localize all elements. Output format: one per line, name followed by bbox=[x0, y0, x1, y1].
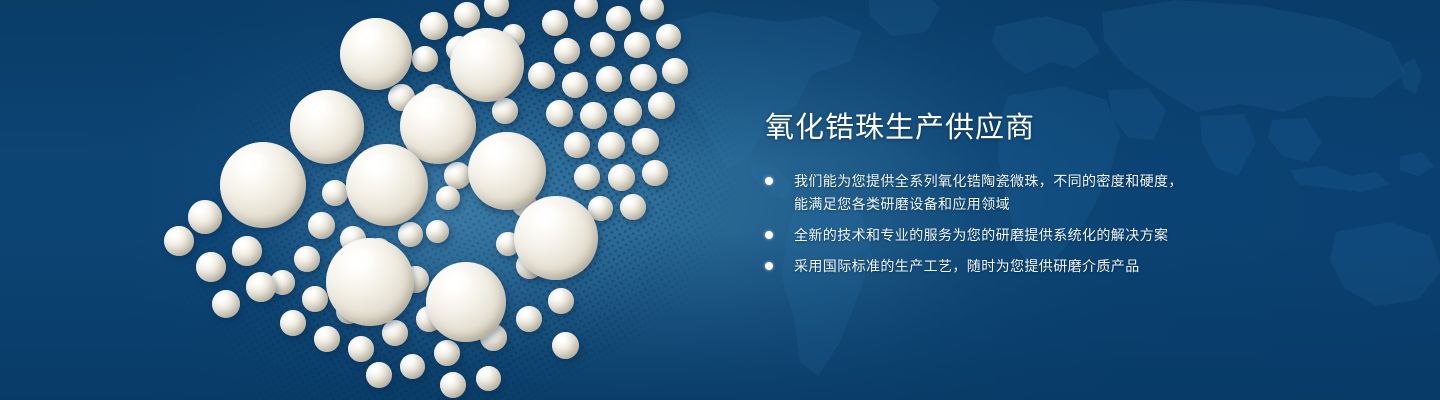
list-item-line-2: 能满足您各类研磨设备和应用领域 bbox=[794, 193, 1325, 215]
list-item: 全新的技术和专业的服务为您的研磨提供系统化的解决方案 bbox=[765, 224, 1325, 246]
bullet-dot-icon bbox=[765, 231, 773, 239]
feature-list: 我们能为您提供全系列氧化锆陶瓷微珠，不同的密度和硬度， 能满足您各类研磨设备和应… bbox=[765, 170, 1325, 277]
list-item-line-1: 全新的技术和专业的服务为您的研磨提供系统化的解决方案 bbox=[794, 227, 1168, 243]
list-item-line-1: 采用国际标准的生产工艺，随时为您提供研磨介质产品 bbox=[794, 258, 1140, 274]
page-title: 氧化锆珠生产供应商 bbox=[765, 108, 1325, 148]
hero-banner: 氧化锆珠生产供应商 我们能为您提供全系列氧化锆陶瓷微珠，不同的密度和硬度， 能满… bbox=[0, 0, 1440, 400]
list-item-line-1: 我们能为您提供全系列氧化锆陶瓷微珠，不同的密度和硬度， bbox=[794, 173, 1183, 189]
bullet-dot-icon bbox=[765, 262, 773, 270]
banner-copy: 氧化锆珠生产供应商 我们能为您提供全系列氧化锆陶瓷微珠，不同的密度和硬度， 能满… bbox=[765, 108, 1325, 277]
bullet-dot-icon bbox=[765, 177, 773, 185]
list-item: 采用国际标准的生产工艺，随时为您提供研磨介质产品 bbox=[765, 255, 1325, 277]
list-item: 我们能为您提供全系列氧化锆陶瓷微珠，不同的密度和硬度， 能满足您各类研磨设备和应… bbox=[765, 170, 1325, 215]
